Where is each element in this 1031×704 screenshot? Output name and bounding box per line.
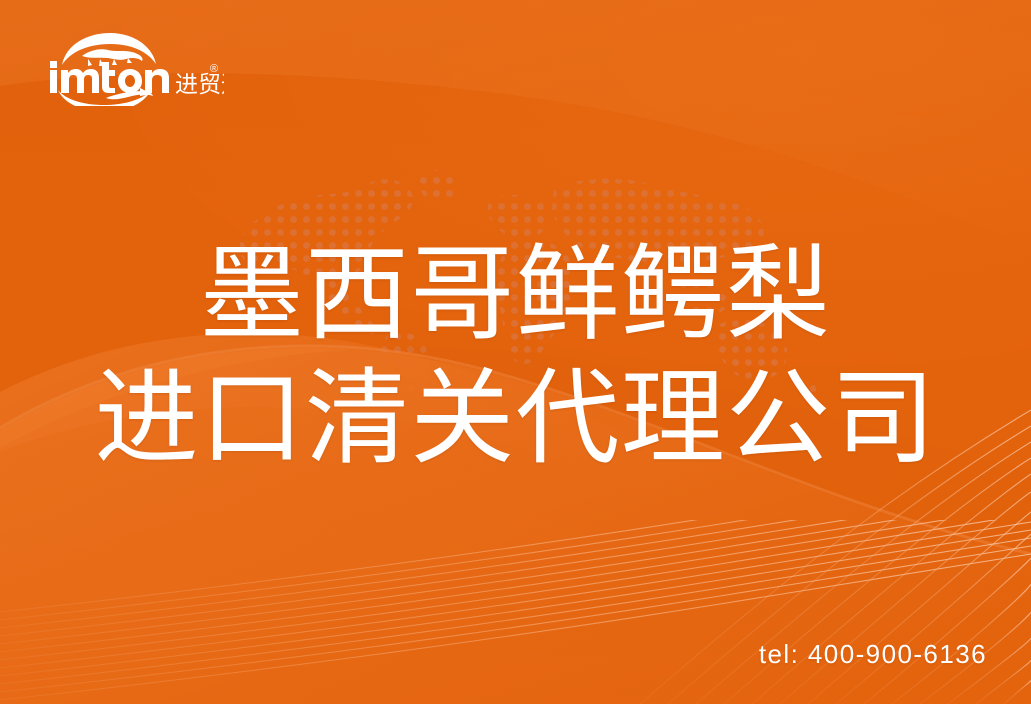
telephone-label[interactable]: tel: 400-900-6136 [759,639,987,670]
headline-block: 墨西哥鲜鳄梨 进口清关代理公司 [0,232,1031,480]
headline-line-2: 进口清关代理公司 [0,356,1031,480]
promo-banner: 进贸通 ® 墨西哥鲜鳄梨 进口清关代理公司 tel: 400-900-6136 [0,0,1031,704]
logo-wordmark-chinese: 进贸通 [175,72,224,98]
logo-wordmark-latin [50,61,169,93]
globe-landmass-icon [82,49,143,66]
imton-logo[interactable]: 进贸通 ® [44,28,224,106]
trademark-icon: ® [210,63,218,75]
headline-line-1: 墨西哥鲜鳄梨 [0,232,1031,356]
